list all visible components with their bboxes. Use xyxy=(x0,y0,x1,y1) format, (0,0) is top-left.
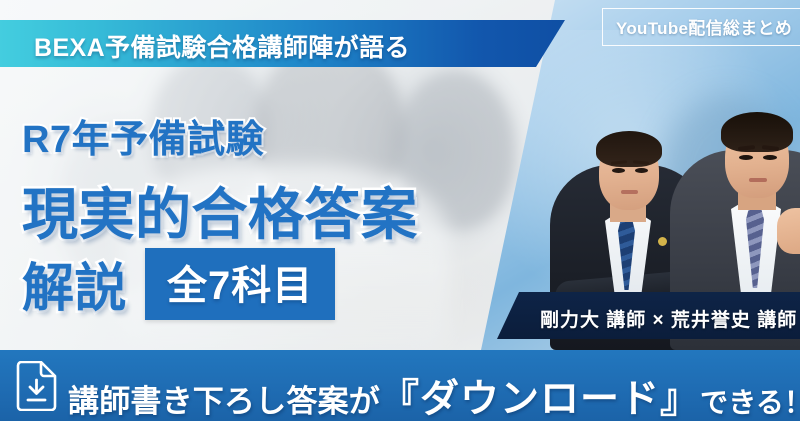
instructor-right-eye xyxy=(763,155,777,160)
subject-count-badge: 全7科目 xyxy=(145,248,335,320)
promo-banner: BEXA予備試験合格講師陣が語る YouTube配信総まとめ R7年予備試験 現… xyxy=(0,0,800,421)
instructor-right-eye xyxy=(739,155,753,160)
download-bar-text: 講師書き下ろし答案が『ダウンロード』できる！ xyxy=(68,368,800,421)
top-ribbon-label: BEXA予備試験合格講師陣が語る xyxy=(34,28,410,64)
instructor-left-eye xyxy=(612,168,625,173)
instructor-right-fist xyxy=(777,208,800,254)
download-document-icon xyxy=(14,361,58,411)
instructor-left-eye xyxy=(635,168,648,173)
download-text-part-1: 講師書き下ろし答案が xyxy=(68,384,380,419)
download-bar[interactable]: 講師書き下ろし答案が『ダウンロード』できる！ xyxy=(0,350,800,421)
instructor-right-mouth xyxy=(749,178,767,182)
headline-line-2: 現実的合格答案 xyxy=(22,170,418,251)
lawyer-badge-icon xyxy=(658,237,667,246)
instructor-right-hair xyxy=(721,112,793,152)
headline-line-1: R7年予備試験 xyxy=(22,108,264,163)
headline-line-3: 解説 xyxy=(22,246,127,321)
youtube-summary-badge: YouTube配信総まとめ xyxy=(602,8,800,46)
instructor-left-mouth xyxy=(621,190,638,194)
download-text-emphasis: 『ダウンロード』 xyxy=(380,378,700,421)
instructor-names-label: 剛力大 講師 × 荒井誉史 講師 xyxy=(540,305,797,332)
headline-line-3-row: 解説 全7科目 xyxy=(22,246,335,321)
instructor-left-hair xyxy=(596,131,662,167)
download-text-part-3: できる！ xyxy=(700,387,800,418)
